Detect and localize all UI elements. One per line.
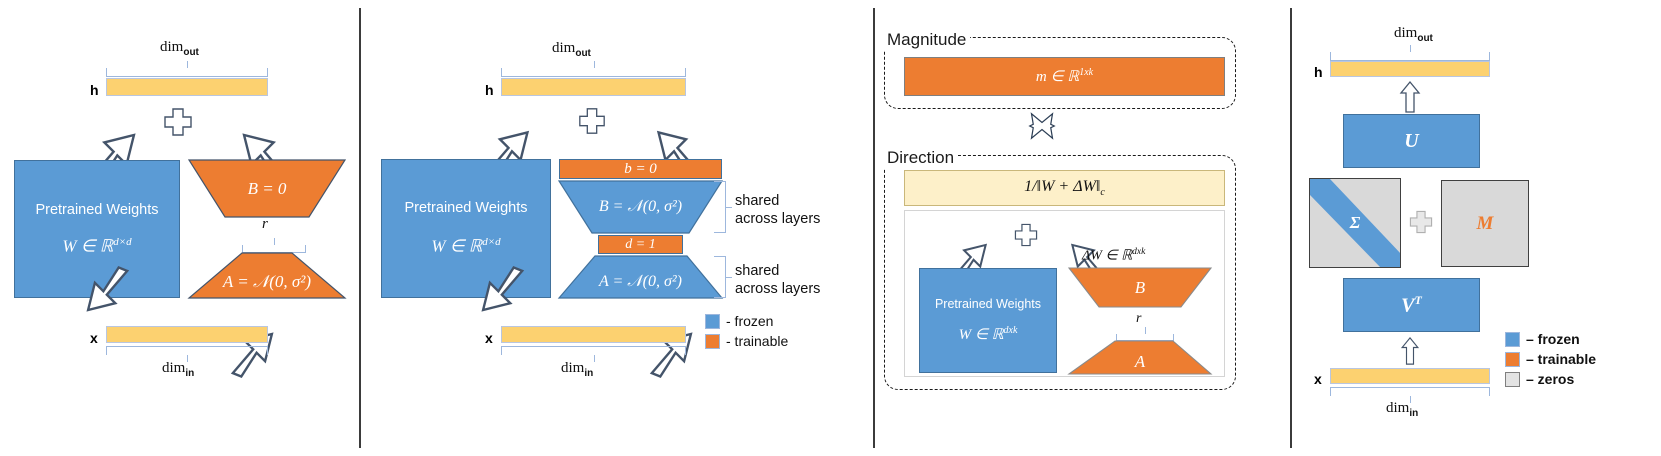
legend-item: – trainable	[1505, 351, 1596, 367]
panel4-M-label: M	[1477, 213, 1494, 235]
panel4-U-matrix: U	[1343, 114, 1480, 168]
panel4-dim-in-bracket	[1330, 387, 1490, 396]
panel2-x-vector	[501, 326, 686, 343]
legend-item: – zeros	[1505, 371, 1596, 387]
panel2-A-matrix: A = 𝒩(0, σ²)	[559, 256, 722, 298]
legend-item: - trainable	[705, 333, 788, 349]
panel3-pretrained-weights: Pretrained Weights W ∈ ℝdxk	[919, 268, 1057, 373]
panel1-arrow-left-up	[84, 98, 138, 146]
panel1-h-label: h	[90, 82, 99, 98]
panel1-A-matrix: A = 𝒩(0, σ²)	[189, 253, 345, 298]
panel4-x-label: x	[1314, 371, 1322, 387]
panel3-m-label: m ∈ ℝ1xk	[1036, 67, 1093, 86]
legend-label-trainable: - trainable	[726, 333, 788, 349]
panel3-m-vector: m ∈ ℝ1xk	[904, 57, 1225, 96]
panel3-B-matrix: B	[1069, 268, 1211, 307]
panel2-arrow-left-up	[481, 98, 531, 144]
legend-item: - frozen	[705, 313, 788, 329]
panel4-arrow-up-top	[1400, 81, 1420, 113]
panel4-dim-in-label: dimin	[1386, 400, 1418, 419]
panel3-pretrained-title: Pretrained Weights	[935, 297, 1041, 311]
panel3-norm-label: 1/‖W + ΔW‖c	[1024, 178, 1105, 198]
legend-label-frozen: - frozen	[726, 313, 773, 329]
panel2-A-label: A = 𝒩(0, σ²)	[559, 256, 722, 298]
panel2-dim-in-label: dimin	[561, 360, 593, 379]
panel3-B-label: B	[1069, 268, 1211, 307]
panel2-legend: - frozen - trainable	[705, 313, 788, 353]
panel1-r-bracket	[242, 245, 306, 253]
legend-label-trainable: – trainable	[1526, 351, 1596, 367]
panel1-A-label: A = 𝒩(0, σ²)	[189, 253, 345, 298]
panel4-h-vector	[1330, 61, 1490, 77]
panel1-pretrained-title: Pretrained Weights	[35, 202, 158, 218]
panel1-plus-icon	[162, 106, 194, 138]
panel3-pretrained-formula: W ∈ ℝdxk	[959, 325, 1018, 344]
panel3-arrow-left-up	[949, 218, 993, 258]
panel4-U-label: U	[1404, 130, 1418, 153]
panel2-shared-note-2: shared across layers	[735, 262, 820, 298]
panel2-x-label: x	[485, 330, 493, 346]
panel2-d-label: d = 1	[625, 237, 655, 253]
panel3-deltaW-label: ΔW ∈ ℝdxk	[1082, 247, 1145, 265]
panel4-legend: – frozen – trainable – zeros	[1505, 331, 1596, 391]
panel4-M-matrix: M	[1441, 180, 1529, 267]
panel-lora: dimout h	[0, 0, 359, 456]
panel2-shared-bracket-2	[714, 256, 726, 298]
panel1-dim-out-bracket	[106, 68, 268, 77]
panel2-shared-bracket-1	[714, 181, 726, 233]
panel-svd: dimout h U Σ	[1290, 0, 1661, 456]
legend-swatch-zeros	[1505, 372, 1520, 387]
panel3-direction-title: Direction	[883, 148, 958, 168]
panel2-pretrained-weights: Pretrained Weights W ∈ ℝd×d	[381, 159, 551, 298]
panel-dora: Magnitude m ∈ ℝ1xk Direction 1/‖W + ΔW‖c	[873, 0, 1290, 456]
panel1-h-vector	[106, 78, 268, 96]
panel2-pretrained-title: Pretrained Weights	[404, 200, 527, 216]
legend-swatch-frozen	[705, 314, 720, 329]
panel4-arrow-up-bottom	[1400, 337, 1420, 365]
legend-item: – frozen	[1505, 331, 1596, 347]
panel3-multiply-icon	[1028, 112, 1056, 140]
panel2-dim-in-bracket	[501, 346, 686, 355]
panel1-B-label: B = 0	[189, 160, 345, 217]
panel3-A-label: A	[1069, 341, 1211, 374]
panel2-h-label: h	[485, 82, 494, 98]
panel2-d-vector: d = 1	[598, 235, 683, 254]
panel2-dim-out-bracket	[501, 68, 686, 77]
panel3-plus-icon	[1013, 222, 1039, 248]
legend-label-frozen: – frozen	[1526, 331, 1580, 347]
panel-vera: dimout h Pretrained Wei	[359, 0, 873, 456]
legend-swatch-trainable	[705, 334, 720, 349]
panel3-r-label: r	[1136, 311, 1141, 327]
panel1-dim-in-bracket	[106, 346, 268, 355]
panel1-dim-out-label: dimout	[160, 39, 199, 58]
panel4-VT-label: VT	[1401, 293, 1422, 318]
panel4-VT-matrix: VT	[1343, 278, 1480, 332]
panel4-x-vector	[1330, 368, 1490, 384]
panel1-x-label: x	[90, 330, 98, 346]
panel1-pretrained-formula: W ∈ ℝd×d	[62, 236, 131, 257]
panel2-B-matrix: B = 𝒩(0, σ²)	[559, 181, 722, 233]
panel1-arrow-right-up	[240, 98, 294, 146]
panel4-dim-out-bracket	[1330, 52, 1490, 61]
panel1-dim-in-label: dimin	[162, 360, 194, 379]
panel2-plus-icon	[577, 106, 607, 136]
panel1-pretrained-weights: Pretrained Weights W ∈ ℝd×d	[14, 160, 180, 298]
panel2-b-label: b = 0	[624, 161, 657, 178]
legend-swatch-frozen	[1505, 332, 1520, 347]
legend-label-zeros: – zeros	[1526, 371, 1574, 387]
panel1-r-label: r	[262, 216, 268, 233]
panel2-arrow-right-up	[655, 98, 705, 144]
panel3-magnitude-title: Magnitude	[883, 30, 970, 50]
panel1-B-matrix: B = 0	[189, 160, 345, 217]
panel3-norm-row: 1/‖W + ΔW‖c	[904, 170, 1225, 206]
panel2-h-vector	[501, 78, 686, 96]
panel4-plus-icon	[1408, 209, 1434, 235]
panel2-dim-out-label: dimout	[552, 40, 591, 59]
panel3-A-matrix: A	[1069, 341, 1211, 374]
legend-swatch-trainable	[1505, 352, 1520, 367]
panel2-pretrained-formula: W ∈ ℝd×d	[431, 236, 500, 257]
panel4-dim-out-label: dimout	[1394, 25, 1433, 44]
panel2-b-vector: b = 0	[559, 159, 722, 179]
panel4-Sigma-matrix: Σ	[1309, 178, 1401, 268]
panel1-x-vector	[106, 326, 268, 343]
figure-canvas: dimout h	[0, 0, 1661, 456]
panel4-h-label: h	[1314, 64, 1323, 80]
panel4-Sigma-label: Σ	[1350, 213, 1361, 233]
panel2-shared-note-1: shared across layers	[735, 192, 820, 228]
panel3-r-bracket	[1116, 334, 1174, 341]
panel2-B-label: B = 𝒩(0, σ²)	[559, 181, 722, 233]
